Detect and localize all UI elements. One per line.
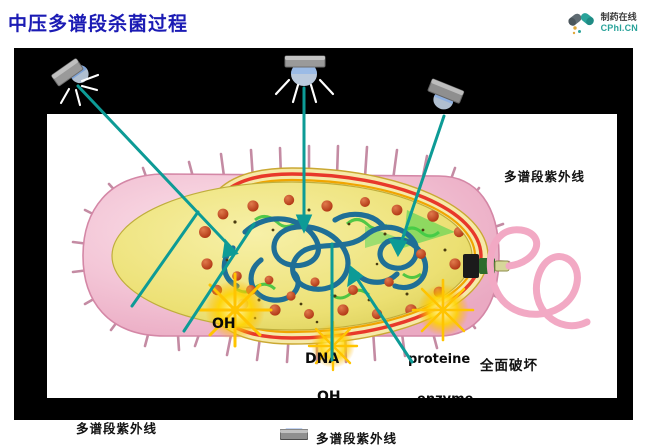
capsule-logo-icon	[566, 10, 596, 36]
brand-name-cn: 制药在线	[601, 13, 638, 23]
label-hydroxyl-lower: OH	[317, 389, 341, 398]
label-hydroxyl-upper: OH	[212, 316, 236, 332]
annotation-uv-right: 多谱段紫外线	[504, 166, 585, 185]
figure-frame: OH OH DNA proteine enzyme	[14, 48, 633, 420]
uv-lamp-top-left	[51, 57, 98, 105]
uv-lamp-legend-icon	[280, 427, 308, 439]
brand-logo-text: 制药在线 CPhI.CN	[601, 13, 638, 34]
burst-left	[199, 274, 271, 346]
uv-lamp-top-right	[423, 79, 464, 115]
burst-right	[413, 280, 473, 340]
annotation-full-destruction: 全面破坏	[480, 354, 538, 374]
label-dna: DNA	[305, 351, 339, 367]
brand-name-en: CPhI.CN	[601, 23, 638, 33]
label-proteine: proteine	[408, 352, 470, 367]
page-title: 中压多谱段杀菌过程	[8, 9, 188, 36]
label-enzyme: enzyme	[417, 392, 473, 398]
brand-logo: 制药在线 CPhI.CN	[566, 8, 638, 38]
annotation-uv-bottom-left: 多谱段紫外线	[76, 418, 157, 437]
slide-root: 中压多谱段杀菌过程 制药在线 CPhI.CN	[0, 0, 648, 431]
flagellum	[490, 230, 587, 326]
uv-lamp-top-center	[276, 56, 333, 102]
